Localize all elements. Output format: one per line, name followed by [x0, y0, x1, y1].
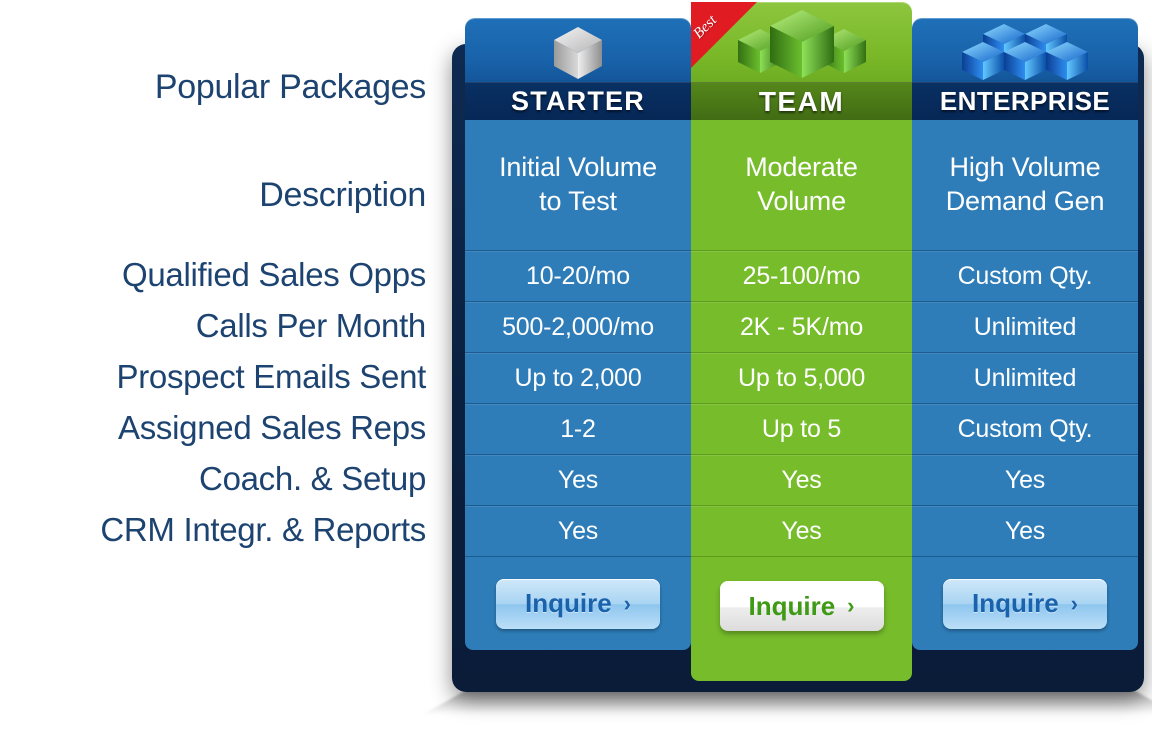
cta-area-enterprise: Inquire › [912, 557, 1138, 650]
plan-description-starter: Initial Volume to Test [465, 120, 691, 251]
cell-starter-qualified-sales-opps: 10-20/mo [465, 251, 691, 302]
inquire-button-team[interactable]: Inquire › [720, 581, 884, 631]
plan-name-enterprise: ENTERPRISE [940, 86, 1110, 117]
cta-area-starter: Inquire › [465, 557, 691, 650]
cell-team-calls-per-month: 2K - 5K/mo [691, 302, 912, 353]
plan-description-team: Moderate Volume [691, 120, 912, 251]
row-label-crm-integration-reports: CRM Integr. & Reports [100, 511, 426, 549]
row-label-calls-per-month: Calls Per Month [196, 307, 426, 345]
cta-area-team: Inquire › [691, 557, 912, 681]
cell-team-assigned-sales-reps: Up to 5 [691, 404, 912, 455]
plan-description-line2: Demand Gen [946, 185, 1105, 219]
cell-team-qualified-sales-opps: 25-100/mo [691, 251, 912, 302]
row-label-qualified-sales-opps: Qualified Sales Opps [122, 256, 426, 294]
inquire-button-label: Inquire [525, 588, 612, 619]
cell-starter-coaching-setup: Yes [465, 455, 691, 506]
cell-enterprise-prospect-emails-sent: Unlimited [912, 353, 1138, 404]
plan-header-starter: STARTER [465, 18, 691, 120]
plan-header-team: Best [691, 2, 912, 120]
cell-team-crm-integration-reports: Yes [691, 506, 912, 557]
plan-column-starter[interactable]: STARTER Initial Volume to Test 10-20/mo … [465, 18, 691, 650]
feature-label-column: Popular Packages Description Qualified S… [0, 0, 440, 729]
row-label-assigned-sales-reps: Assigned Sales Reps [118, 409, 426, 447]
chevron-right-icon: › [847, 595, 854, 617]
inquire-button-label: Inquire [972, 588, 1059, 619]
single-gray-cube-icon [465, 22, 691, 84]
plan-name-starter: STARTER [511, 86, 645, 117]
plan-name-band-starter: STARTER [465, 82, 691, 120]
cell-starter-calls-per-month: 500-2,000/mo [465, 302, 691, 353]
cell-team-prospect-emails-sent: Up to 5,000 [691, 353, 912, 404]
plan-description-enterprise: High Volume Demand Gen [912, 120, 1138, 251]
row-label-description: Description [259, 176, 426, 215]
best-badge-ribbon [691, 2, 757, 68]
cell-starter-crm-integration-reports: Yes [465, 506, 691, 557]
cell-enterprise-calls-per-month: Unlimited [912, 302, 1138, 353]
cell-starter-prospect-emails-sent: Up to 2,000 [465, 353, 691, 404]
plan-description-line1: High Volume [946, 151, 1105, 185]
page-title: Popular Packages [155, 68, 426, 107]
chevron-right-icon: › [624, 593, 631, 615]
cell-enterprise-crm-integration-reports: Yes [912, 506, 1138, 557]
plan-name-band-team: TEAM [691, 82, 912, 120]
plan-description-line1: Initial Volume [499, 151, 657, 185]
plan-column-enterprise[interactable]: ENTERPRISE High Volume Demand Gen Custom… [912, 18, 1138, 650]
plan-column-team[interactable]: Best [691, 2, 912, 681]
cell-starter-assigned-sales-reps: 1-2 [465, 404, 691, 455]
cell-enterprise-assigned-sales-reps: Custom Qty. [912, 404, 1138, 455]
five-blue-cubes-icon [912, 22, 1138, 84]
plan-name-team: TEAM [759, 86, 844, 118]
cell-enterprise-coaching-setup: Yes [912, 455, 1138, 506]
row-label-prospect-emails-sent: Prospect Emails Sent [117, 358, 426, 396]
plan-description-line2: to Test [499, 185, 657, 219]
inquire-button-label: Inquire [749, 591, 836, 622]
pricing-comparison-table: Popular Packages Description Qualified S… [0, 0, 1152, 729]
inquire-button-enterprise[interactable]: Inquire › [943, 579, 1107, 629]
cell-team-coaching-setup: Yes [691, 455, 912, 506]
plan-description-line2: Volume [745, 185, 857, 219]
chevron-right-icon: › [1071, 593, 1078, 615]
row-label-coaching-setup: Coach. & Setup [199, 460, 426, 498]
plan-name-band-enterprise: ENTERPRISE [912, 82, 1138, 120]
plan-header-enterprise: ENTERPRISE [912, 18, 1138, 120]
cell-enterprise-qualified-sales-opps: Custom Qty. [912, 251, 1138, 302]
inquire-button-starter[interactable]: Inquire › [496, 579, 660, 629]
plan-description-line1: Moderate [745, 151, 857, 185]
